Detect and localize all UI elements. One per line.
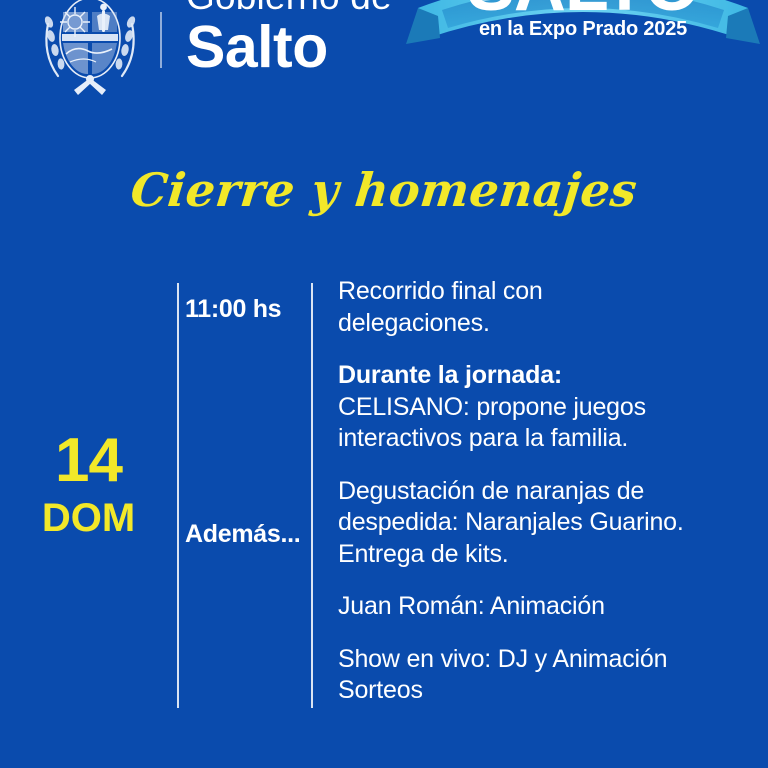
date-day-name: DOM bbox=[0, 498, 177, 538]
page-header: Gobierno de Salto STAND bbox=[0, 0, 768, 120]
program-block: Show en vivo: DJ y Animación Sorteos bbox=[338, 644, 748, 707]
page-title: Cierre y homenajes bbox=[0, 163, 768, 217]
program-line: Show en vivo: DJ y Animación bbox=[338, 644, 748, 676]
program-line: interactivos para la familia. bbox=[338, 423, 748, 455]
program-line: Juan Román: Animación bbox=[338, 591, 748, 623]
time-label-1: 11:00 hs bbox=[185, 295, 281, 324]
program-line: despedida: Naranjales Guarino. bbox=[338, 507, 748, 539]
program-line: Sorteos bbox=[338, 675, 748, 707]
program-line: Recorrido final con bbox=[338, 276, 748, 308]
expo-subtitle: en la Expo Prado 2025 bbox=[398, 18, 768, 41]
government-line1: Gobierno de bbox=[186, 0, 392, 15]
program-line: delegaciones. bbox=[338, 308, 748, 340]
program-line: Degustación de naranjas de bbox=[338, 476, 748, 508]
program-block: Recorrido final con delegaciones. bbox=[338, 276, 748, 339]
date-day-number: 14 bbox=[0, 430, 177, 492]
program-line: Entrega de kits. bbox=[338, 539, 748, 571]
column-divider-left bbox=[177, 283, 179, 708]
date-column: 14 DOM bbox=[0, 430, 177, 538]
expo-logo: STAND SALTO en la Expo Prado 2025 bbox=[398, 0, 768, 120]
program-block: Degustación de naranjas de despedida: Na… bbox=[338, 476, 748, 571]
column-divider-right bbox=[311, 283, 313, 708]
program-line: Durante la jornada: bbox=[338, 360, 748, 392]
time-label-2: Además... bbox=[185, 520, 300, 549]
government-logotype: Gobierno de Salto bbox=[186, 0, 392, 77]
program-content-column: Recorrido final con delegaciones. Durant… bbox=[338, 276, 748, 707]
program-line: CELISANO: propone juegos bbox=[338, 392, 748, 424]
government-line2: Salto bbox=[186, 18, 392, 77]
program-block: Juan Román: Animación bbox=[338, 591, 748, 623]
header-divider bbox=[160, 12, 162, 68]
uruguay-coat-of-arms-icon bbox=[30, 0, 150, 100]
program-block: Durante la jornada: CELISANO: propone ju… bbox=[338, 360, 748, 455]
